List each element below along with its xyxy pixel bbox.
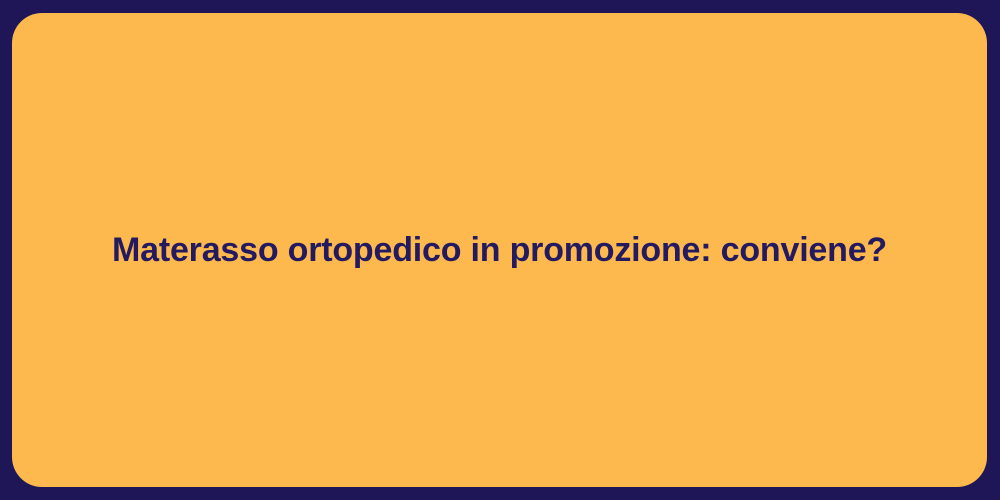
banner-frame: Materasso ortopedico in promozione: conv… <box>0 0 1000 500</box>
banner-headline: Materasso ortopedico in promozione: conv… <box>112 229 887 272</box>
banner-card: Materasso ortopedico in promozione: conv… <box>12 13 987 487</box>
